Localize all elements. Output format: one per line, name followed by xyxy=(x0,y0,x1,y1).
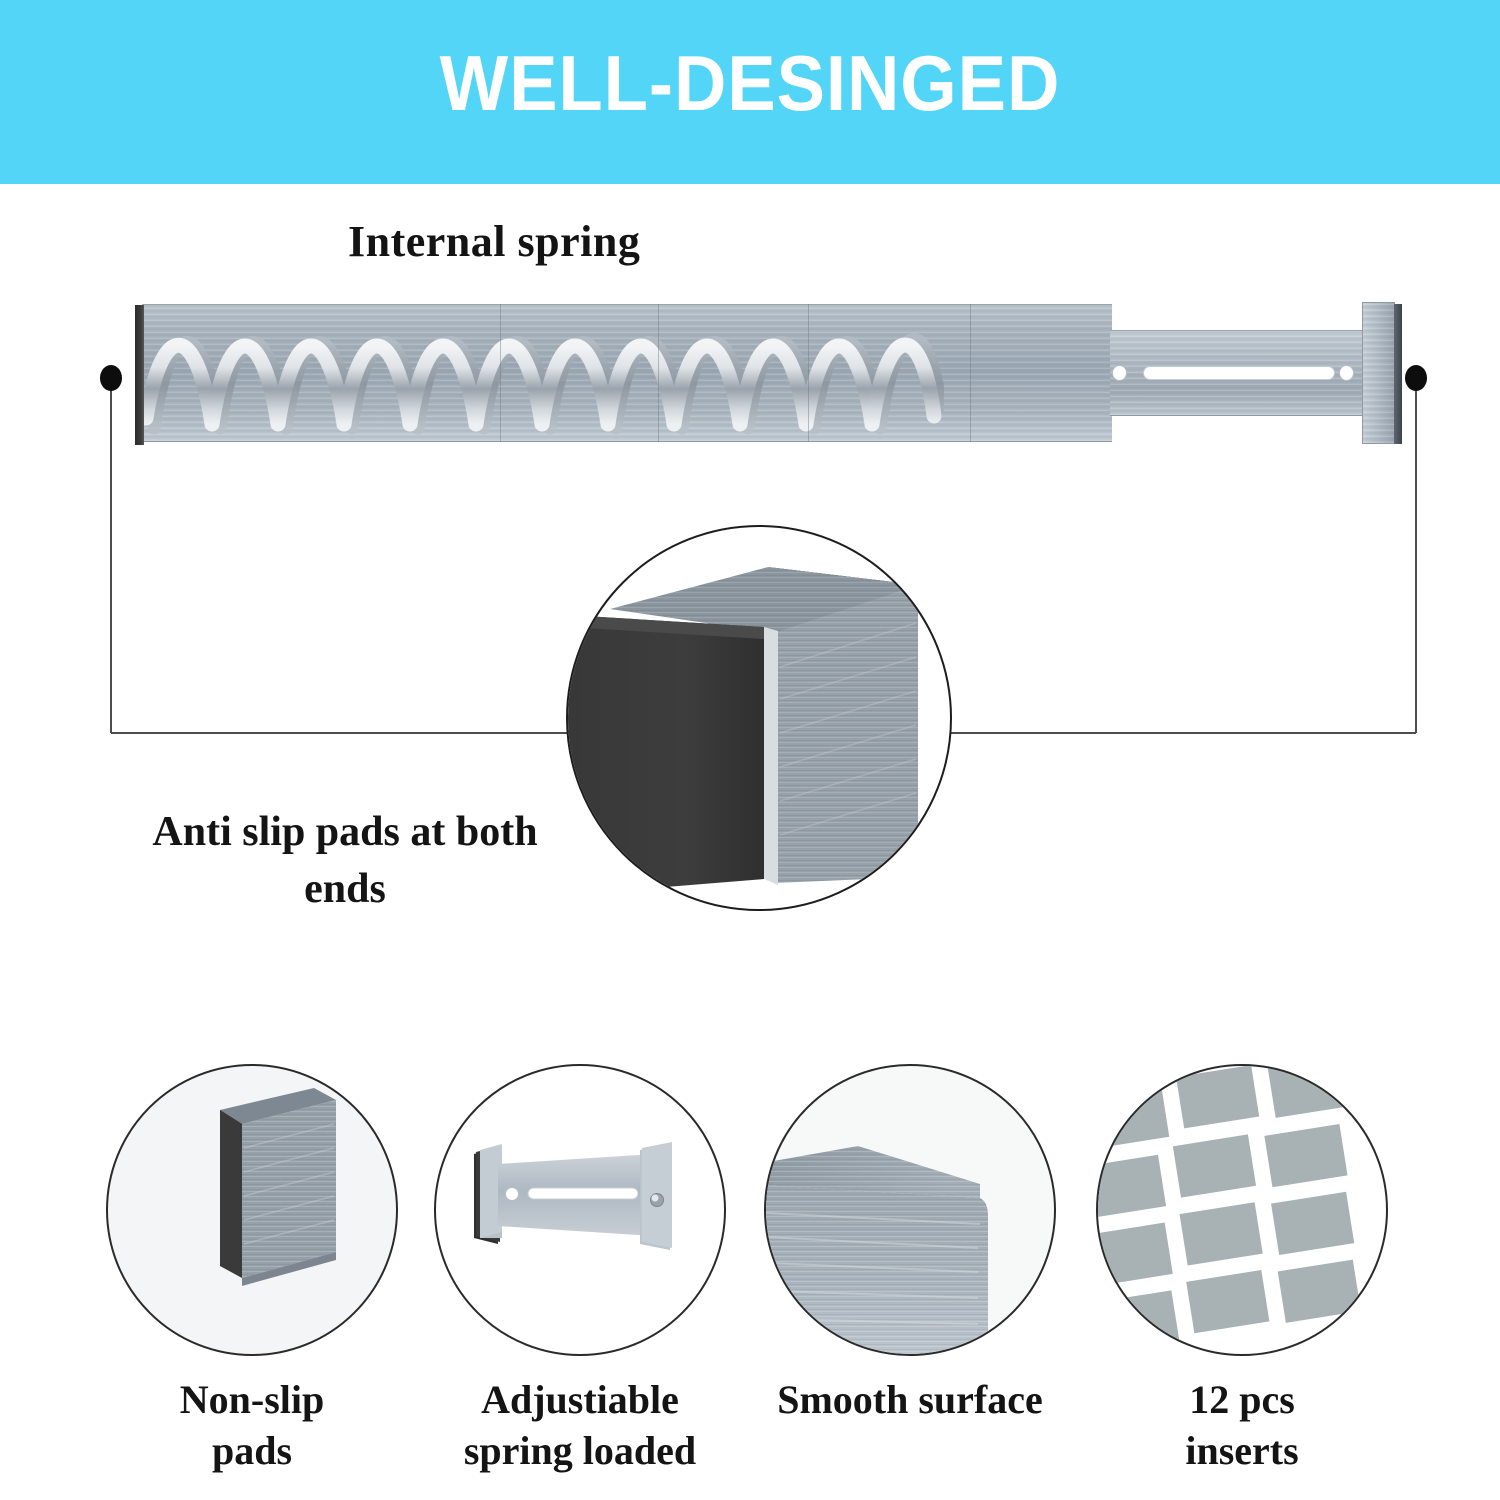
bar-end-with-pad-icon xyxy=(108,1066,398,1356)
feature-caption: Adjustiable spring loaded xyxy=(410,1374,750,1476)
feature-image-circle xyxy=(764,1064,1056,1356)
feature-adjustable-spring-loaded[interactable]: Adjustiable spring loaded xyxy=(410,1064,750,1476)
rod-seam-4 xyxy=(970,304,971,442)
feature-smooth-surface[interactable]: Smooth surface xyxy=(740,1064,1080,1425)
rod-seam-2 xyxy=(658,304,659,442)
antislip-closeup-circle xyxy=(566,525,952,911)
page-title: WELL-DESINGED xyxy=(53,44,1448,122)
feature-non-slip-pads[interactable]: Non-slip pads xyxy=(82,1064,422,1476)
rounded-edge-icon xyxy=(766,1066,1056,1356)
antislip-pad-corner-icon xyxy=(568,527,952,911)
feature-image-circle xyxy=(106,1064,398,1356)
feature-caption: 12 pcs inserts xyxy=(1072,1374,1412,1476)
screw-hole-left xyxy=(1112,365,1127,381)
product-rod-assembly xyxy=(130,302,1400,462)
feature-caption: Smooth surface xyxy=(740,1374,1080,1425)
screw-hole-right xyxy=(1339,365,1354,381)
right-end-cap xyxy=(1362,302,1395,444)
header-banner: WELL-DESINGED xyxy=(0,0,1500,184)
feature-image-circle xyxy=(1096,1064,1388,1356)
bracket-dot-left xyxy=(100,365,122,391)
adjustable-rod-icon xyxy=(436,1066,726,1356)
bracket-dot-right xyxy=(1405,365,1427,391)
adjustment-slot xyxy=(1143,366,1335,380)
feature-12-pcs-inserts[interactable]: 12 pcs inserts xyxy=(1072,1064,1412,1476)
rod-seam-1 xyxy=(500,304,501,442)
feature-caption: Non-slip pads xyxy=(82,1374,422,1476)
internal-spring-label: Internal spring xyxy=(348,216,640,267)
internal-spring-icon xyxy=(144,306,944,440)
feature-row: Non-slip pads xyxy=(0,1064,1500,1484)
insert-grid-icon xyxy=(1098,1066,1388,1356)
feature-image-circle xyxy=(434,1064,726,1356)
rod-seam-3 xyxy=(808,304,809,442)
left-end-pad-icon xyxy=(135,305,144,445)
content-stage: Internal spring xyxy=(0,184,1500,1500)
right-end-cap-shadow xyxy=(1394,304,1402,444)
antislip-pads-label: Anti slip pads at both ends xyxy=(150,804,540,917)
